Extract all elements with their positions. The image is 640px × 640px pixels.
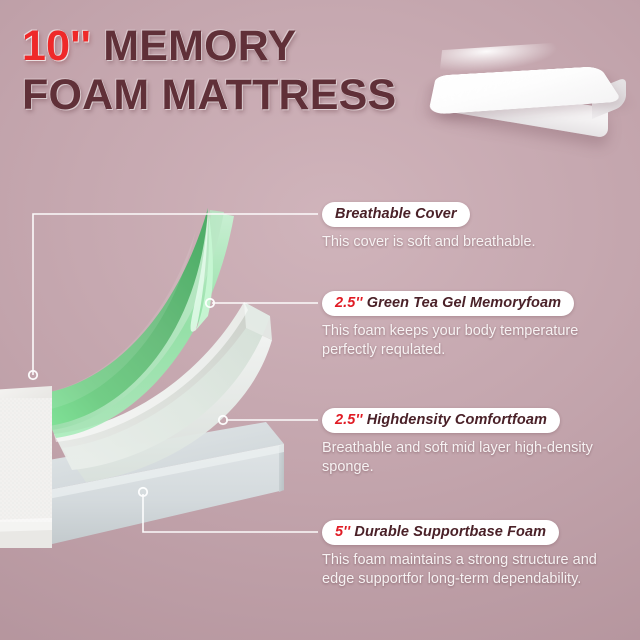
label-description-breathable-cover: This cover is soft and breathable. [322, 233, 536, 252]
label-title: Highdensity Comfortfoam [367, 412, 547, 428]
product-photo [424, 26, 632, 148]
label-measure: 2.5'' [335, 295, 363, 311]
cover-layer [0, 386, 52, 548]
label-description-green-tea-gel: This foam keeps your body temperature pe… [322, 322, 598, 360]
label-measure: 5'' [335, 524, 350, 540]
label-measure: 2.5'' [335, 412, 363, 428]
label-pill-durable-support-base[interactable]: 5'' Durable Supportbase Foam [322, 520, 559, 545]
label-pill-green-tea-gel[interactable]: 2.5'' Green Tea Gel Memoryfoam [322, 291, 574, 316]
label-description-high-density-comfort: Breathable and soft mid layer high-densi… [322, 439, 598, 477]
title-line-1-text: MEMORY [91, 22, 296, 70]
label-group-high-density-comfort: 2.5'' Highdensity Comfortfoam Breathable… [322, 408, 598, 477]
label-group-breathable-cover: Breathable Cover This cover is soft and … [322, 202, 536, 252]
label-title: Durable Supportbase Foam [354, 524, 546, 540]
mattress-infographic: 10'' MEMORY FOAM MATTRESS [0, 0, 640, 640]
title-measure: 10'' [22, 22, 91, 70]
title-line-1: 10'' MEMORY [22, 22, 442, 71]
label-group-durable-support-base: 5'' Durable Supportbase Foam This foam m… [322, 520, 598, 589]
label-group-green-tea-gel: 2.5'' Green Tea Gel Memoryfoam This foam… [322, 291, 598, 360]
label-pill-breathable-cover[interactable]: Breathable Cover [322, 202, 470, 227]
label-pill-high-density-comfort[interactable]: 2.5'' Highdensity Comfortfoam [322, 408, 560, 433]
label-title: Breathable Cover [335, 206, 457, 222]
mattress-cutaway-illustration [0, 190, 316, 550]
label-description-durable-support-base: This foam maintains a strong structure a… [322, 551, 598, 589]
page-title: 10'' MEMORY FOAM MATTRESS [22, 22, 442, 120]
label-title: Green Tea Gel Memoryfoam [367, 295, 561, 311]
title-line-2: FOAM MATTRESS [22, 71, 442, 120]
